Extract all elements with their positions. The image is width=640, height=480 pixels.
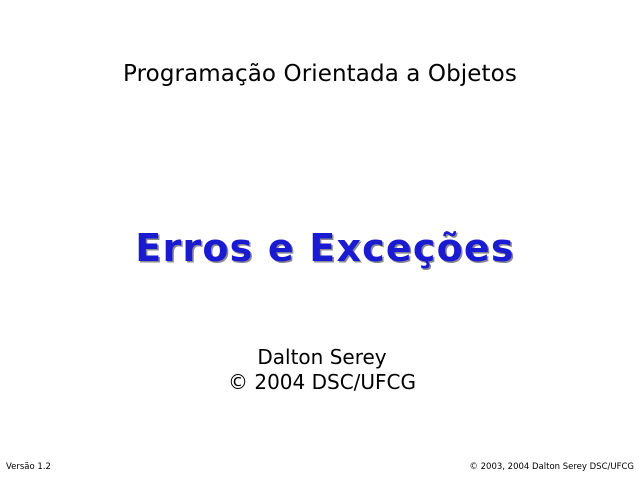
author-copyright: © 2004 DSC/UFCG [4,370,640,395]
author-block: Dalton Serey © 2004 DSC/UFCG [0,345,640,395]
presentation-slide: Programação Orientada a Objetos Erros e … [0,0,640,480]
author-name: Dalton Serey [4,345,640,370]
footer-copyright: © 2003, 2004 Dalton Serey DSC/UFCG [469,462,634,472]
course-title: Programação Orientada a Objetos [0,61,640,87]
slide-heading: Erros e Exceções [0,226,640,270]
footer-version: Versão 1.2 [6,462,51,472]
